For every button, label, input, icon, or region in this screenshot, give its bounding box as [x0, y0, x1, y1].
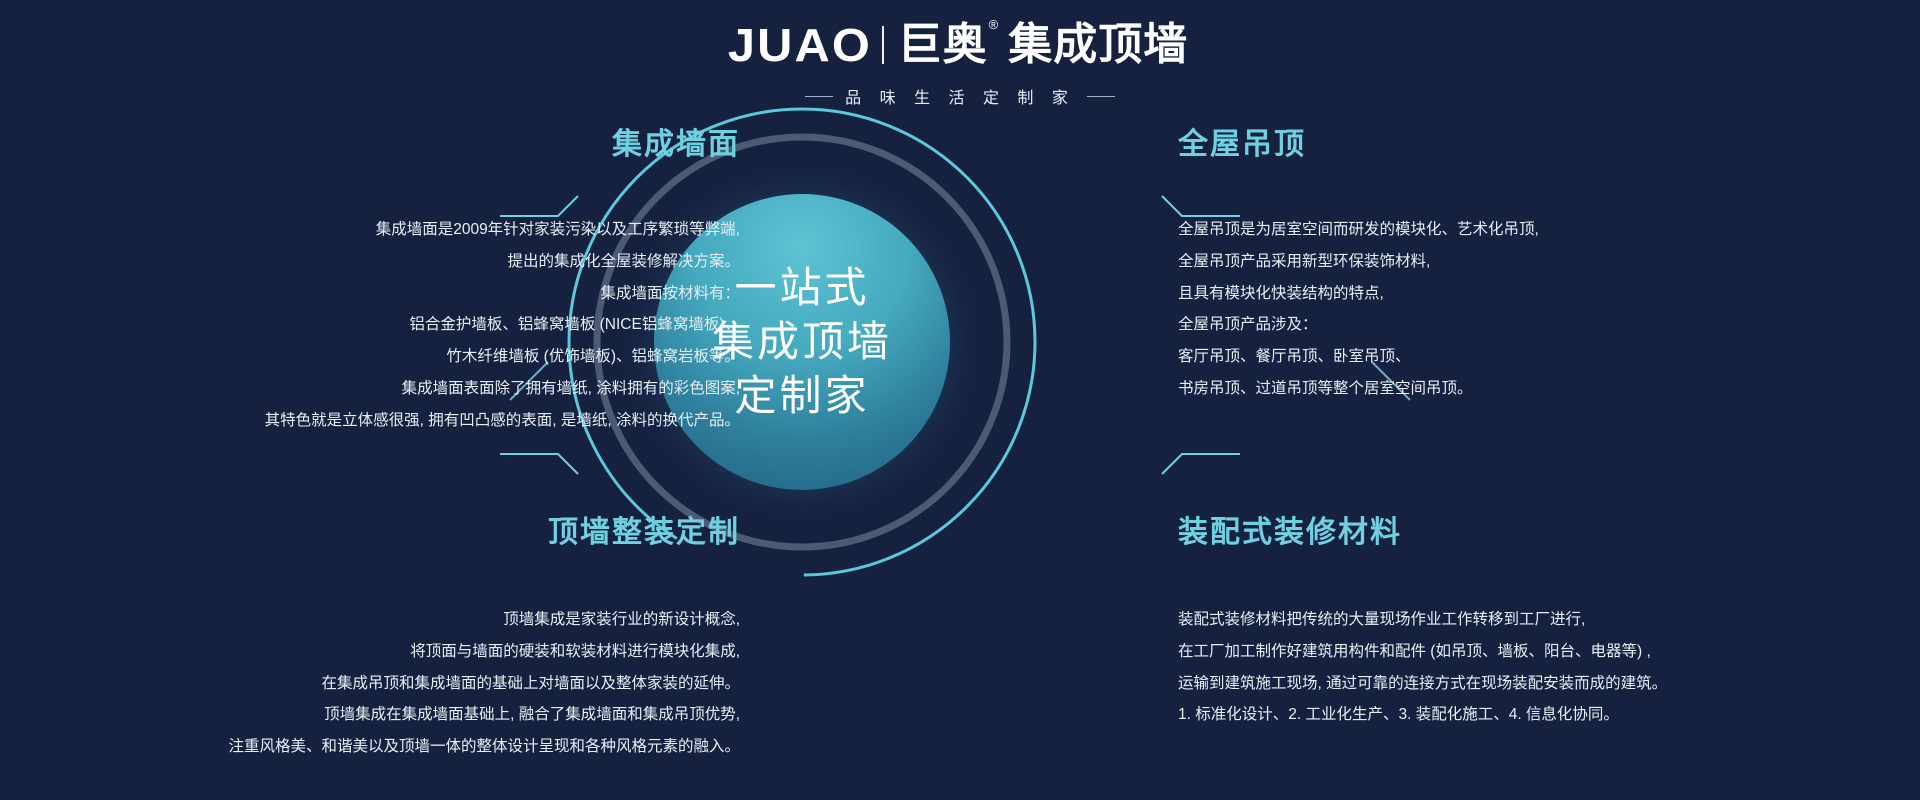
- body-line: 将顶面与墙面的硬装和软装材料进行模块化集成,: [40, 636, 740, 668]
- section-title-prefab-materials: 装配式装修材料: [1178, 518, 1878, 548]
- section-body-ceiling-wall-custom: 顶墙集成是家装行业的新设计概念, 将顶面与墙面的硬装和软装材料进行模块化集成, …: [40, 604, 740, 763]
- tagline-text: 品 味 生 活 定 制 家: [845, 84, 1075, 108]
- section-title-whole-house-ceiling: 全屋吊顶: [1178, 130, 1878, 160]
- body-line: 全屋吊顶产品采用新型环保装饰材料,: [1178, 246, 1878, 278]
- section-ceiling-wall-custom: 顶墙整装定制 顶墙集成是家装行业的新设计概念, 将顶面与墙面的硬装和软装材料进行…: [40, 518, 740, 763]
- body-line: 全屋吊顶产品涉及：: [1178, 309, 1878, 341]
- body-line: 集成墙面表面除了拥有墙纸, 涂料拥有的彩色图案,: [40, 373, 740, 405]
- registered-mark-icon: ®: [989, 17, 1000, 32]
- body-line: 集成墙面是2009年针对家装污染以及工序繁琐等弊端,: [40, 214, 740, 246]
- body-line: 且具有模块化快装结构的特点,: [1178, 278, 1878, 310]
- section-body-integrated-wall: 集成墙面是2009年针对家装污染以及工序繁琐等弊端, 提出的集成化全屋装修解决方…: [40, 214, 740, 436]
- tagline-rule-left: [805, 96, 833, 97]
- body-line: 其特色就是立体感很强, 拥有凹凸感的表面, 是墙纸, 涂料的换代产品。: [40, 405, 740, 437]
- section-title-ceiling-wall-custom: 顶墙整装定制: [40, 518, 740, 548]
- logo-cn-text: 巨奥: [898, 20, 988, 69]
- body-line: 装配式装修材料把传统的大量现场作业工作转移到工厂进行,: [1178, 604, 1878, 636]
- body-line: 1. 标准化设计、2. 工业化生产、3. 装配化施工、4. 信息化协同。: [1178, 699, 1878, 731]
- logo-wordmark-cn: 巨奥®: [898, 23, 999, 67]
- logo-category-cn: 集成顶墙: [1008, 23, 1188, 67]
- body-line: 全屋吊顶是为居室空间而研发的模块化、艺术化吊顶,: [1178, 214, 1878, 246]
- infographic-canvas: JUAO 巨奥® 集成顶墙 品 味 生 活 定 制 家 一站式 集成顶墙 定制家: [0, 0, 1920, 800]
- body-line: 在工厂加工制作好建筑用构件和配件 (如吊顶、墙板、阳台、电器等) ,: [1178, 636, 1878, 668]
- body-line: 顶墙集成是家装行业的新设计概念,: [40, 604, 740, 636]
- brand-tagline: 品 味 生 活 定 制 家: [805, 84, 1115, 108]
- body-line: 在集成吊顶和集成墙面的基础上对墙面以及整体家装的延伸。: [40, 668, 740, 700]
- section-title-integrated-wall: 集成墙面: [40, 130, 740, 160]
- center-line-1: 一站式: [734, 261, 869, 315]
- body-line: 竹木纤维墙板 (优饰墙板)、铝蜂窝岩板等。: [40, 341, 740, 373]
- connector-bottom-right: [1160, 452, 1240, 492]
- logo-lockup: JUAO 巨奥® 集成顶墙: [732, 22, 1188, 68]
- body-line: 运输到建筑施工现场, 通过可靠的连接方式在现场装配安装而成的建筑。: [1178, 668, 1878, 700]
- brand-header: JUAO 巨奥® 集成顶墙 品 味 生 活 定 制 家: [0, 22, 1920, 108]
- body-line: 提出的集成化全屋装修解决方案。: [40, 246, 740, 278]
- section-integrated-wall: 集成墙面 集成墙面是2009年针对家装污染以及工序繁琐等弊端, 提出的集成化全屋…: [40, 130, 740, 436]
- tagline-rule-right: [1087, 96, 1115, 97]
- body-line: 集成墙面按材料有：: [40, 278, 740, 310]
- section-whole-house-ceiling: 全屋吊顶 全屋吊顶是为居室空间而研发的模块化、艺术化吊顶, 全屋吊顶产品采用新型…: [1178, 130, 1878, 405]
- body-line: 书房吊顶、过道吊顶等整个居室空间吊顶。: [1178, 373, 1878, 405]
- section-prefab-materials: 装配式装修材料 装配式装修材料把传统的大量现场作业工作转移到工厂进行, 在工厂加…: [1178, 518, 1878, 731]
- logo-wordmark-en: JUAO: [728, 22, 872, 68]
- section-body-whole-house-ceiling: 全屋吊顶是为居室空间而研发的模块化、艺术化吊顶, 全屋吊顶产品采用新型环保装饰材…: [1178, 214, 1878, 405]
- body-line: 铝合金护墙板、铝蜂窝墙板 (NICE铝蜂窝墙板)、: [40, 309, 740, 341]
- center-line-3: 定制家: [734, 369, 869, 423]
- logo-divider: [882, 26, 884, 64]
- section-body-prefab-materials: 装配式装修材料把传统的大量现场作业工作转移到工厂进行, 在工厂加工制作好建筑用构…: [1178, 604, 1878, 731]
- body-line: 注重风格美、和谐美以及顶墙一体的整体设计呈现和各种风格元素的融入。: [40, 731, 740, 763]
- body-line: 顶墙集成在集成墙面基础上, 融合了集成墙面和集成吊顶优势,: [40, 699, 740, 731]
- body-line: 客厅吊顶、餐厅吊顶、卧室吊顶、: [1178, 341, 1878, 373]
